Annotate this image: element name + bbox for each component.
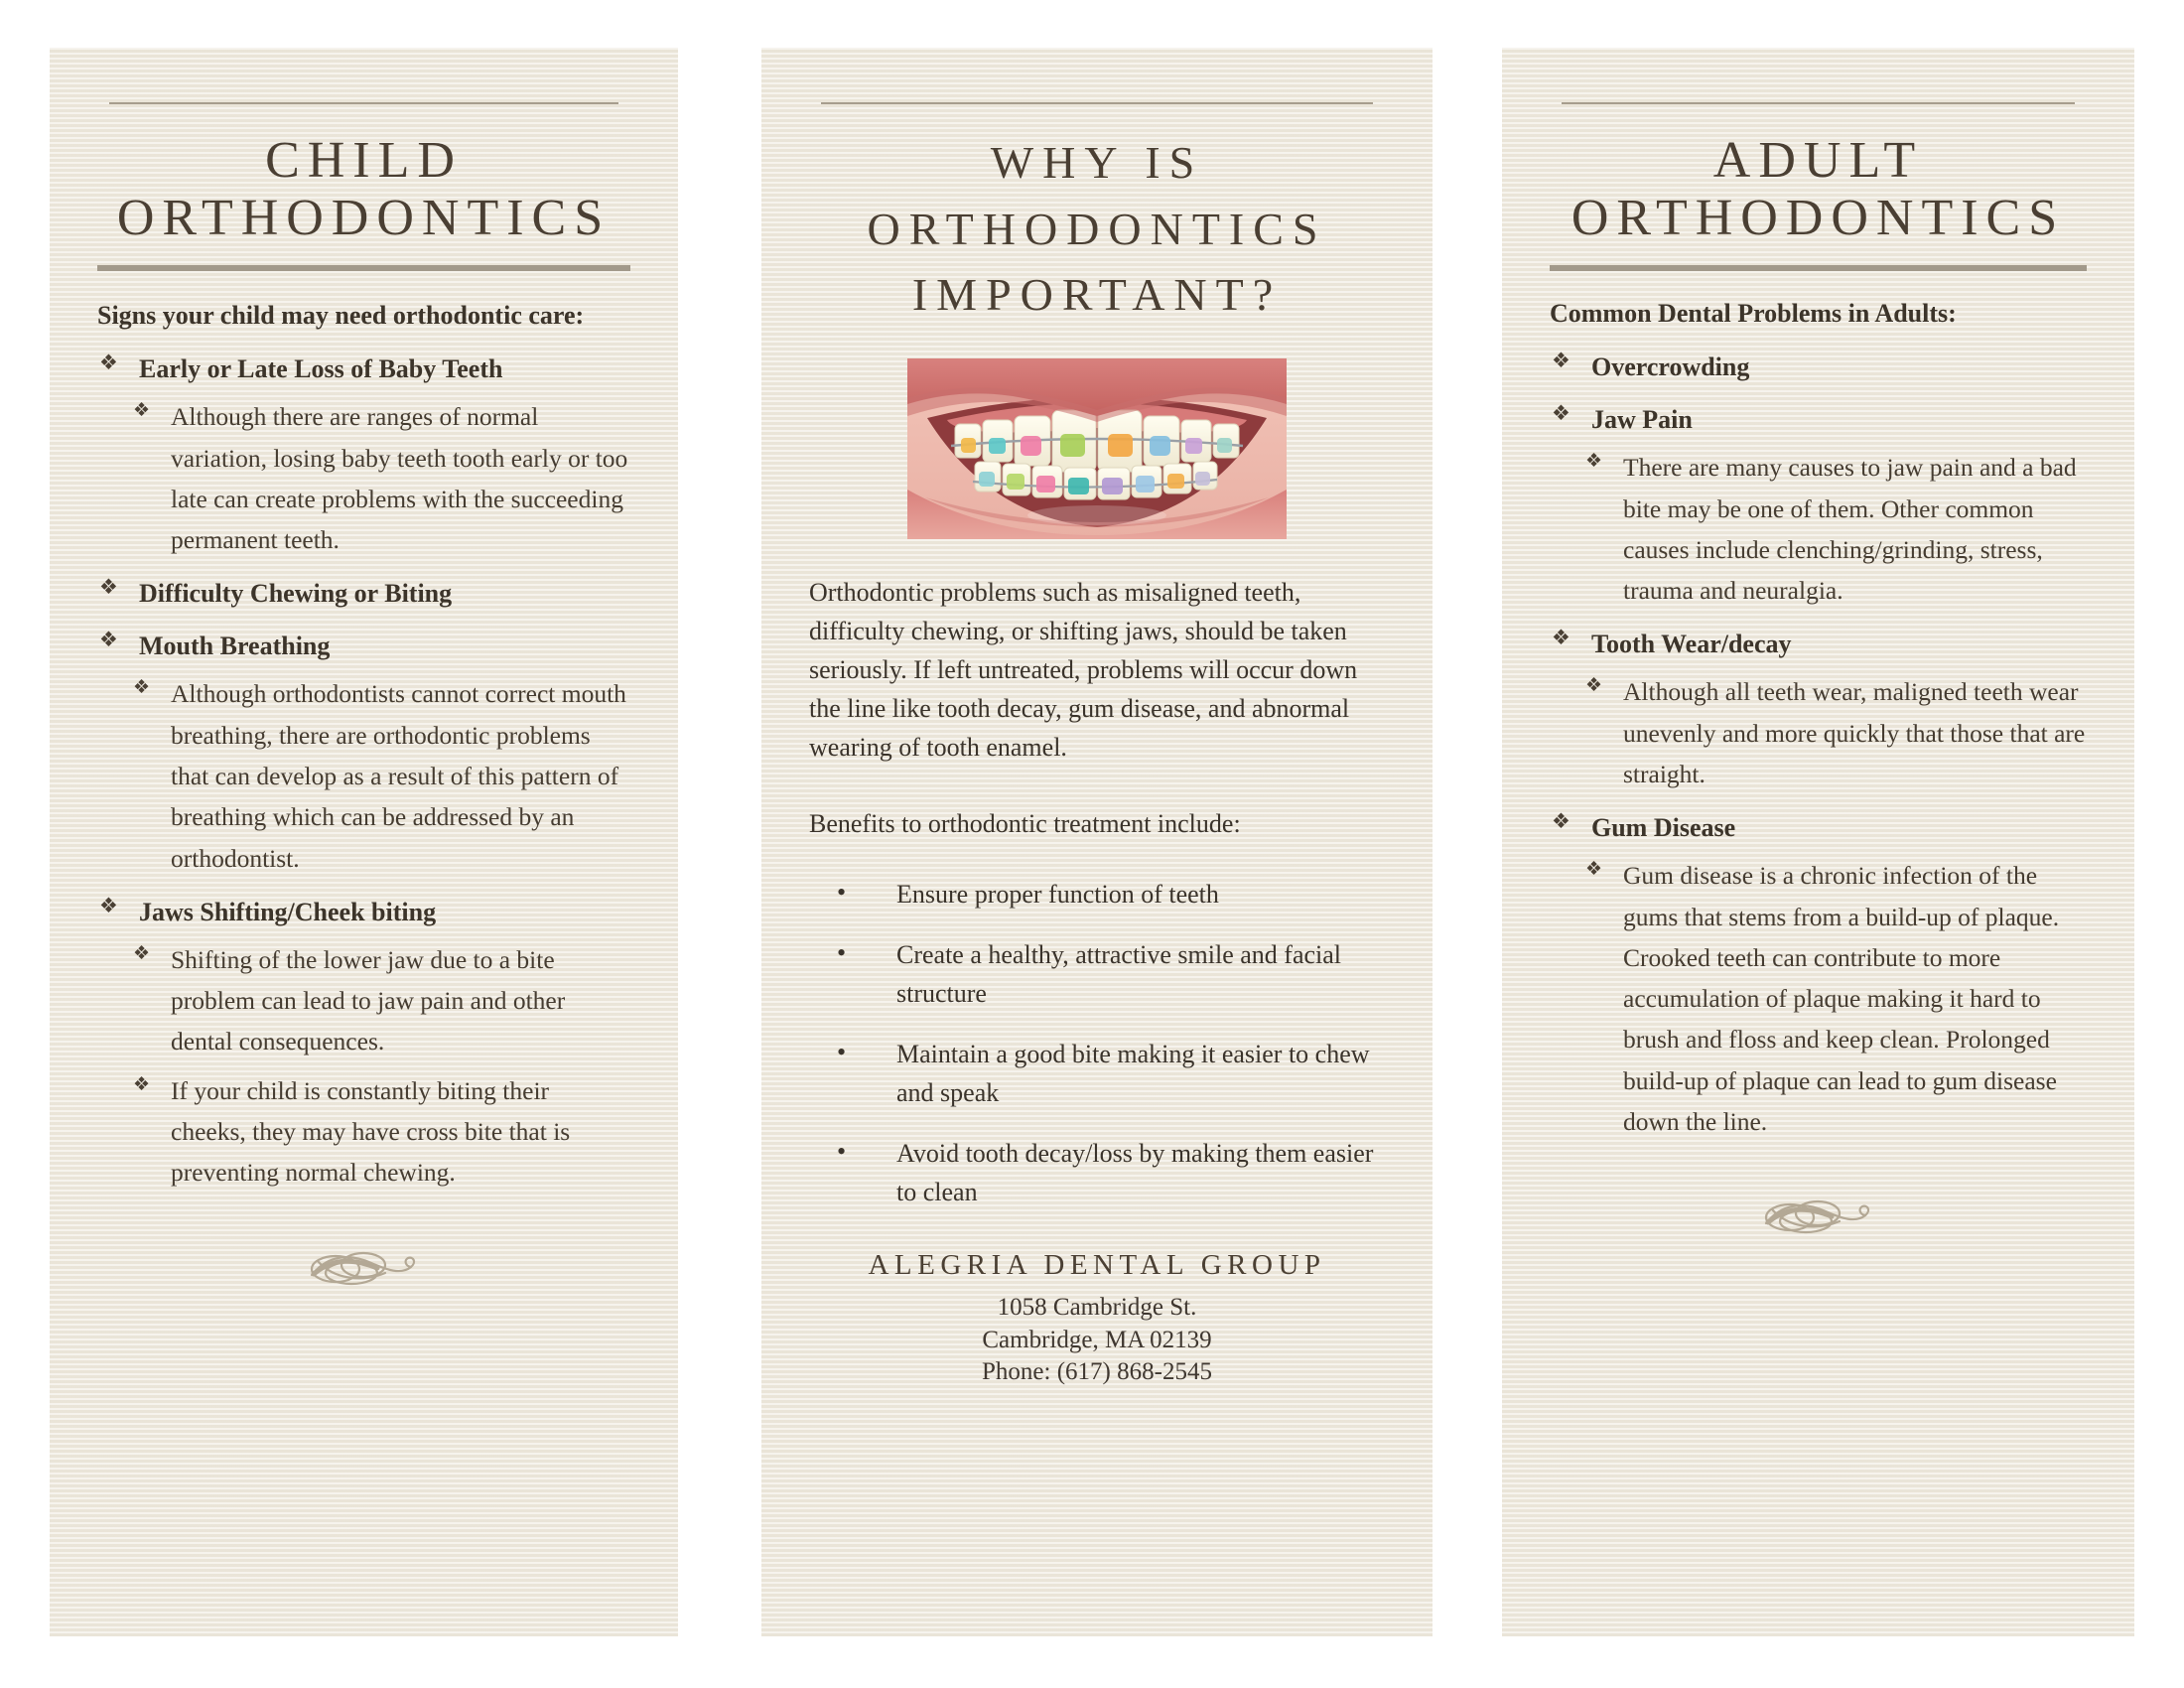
floret-bullet-icon: ❖ [133, 939, 150, 970]
floret-bullet-icon: ❖ [1585, 855, 1602, 886]
list-item-label: Difficulty Chewing or Biting [139, 579, 452, 608]
list-item-label: Overcrowding [1591, 352, 1749, 381]
floret-bullet-icon: ❖ [133, 396, 150, 427]
list-item: ❖ Jaws Shifting/Cheek biting ❖ Shifting … [97, 893, 630, 1194]
page-title-why: WHY IS ORTHODONTICS IMPORTANT? [809, 130, 1385, 329]
dot-bullet-icon: • [837, 1132, 846, 1171]
list-item-label: Jaw Pain [1591, 405, 1693, 434]
dot-bullet-icon: • [837, 873, 846, 912]
flourish-ornament-icon [1550, 1188, 2087, 1241]
list-item: ❖ Jaw Pain ❖ There are many causes to ja… [1550, 400, 2087, 611]
list-item: • Avoid tooth decay/loss by making them … [809, 1134, 1385, 1211]
adult-sublist: ❖ Although all teeth wear, maligned teet… [1583, 671, 2087, 794]
dot-bullet-icon: • [837, 933, 846, 972]
list-item: ❖ Although all teeth wear, maligned teet… [1583, 671, 2087, 794]
floret-bullet-icon: ❖ [99, 891, 118, 922]
dot-bullet-icon: • [837, 1033, 846, 1071]
list-item: ❖ If your child is constantly biting the… [131, 1070, 630, 1194]
list-item-text: Ensure proper function of teeth [896, 880, 1219, 909]
child-sublist: ❖ Although there are ranges of normal va… [131, 396, 630, 560]
list-item: ❖ Shifting of the lower jaw due to a bit… [131, 939, 630, 1062]
floret-bullet-icon: ❖ [1585, 447, 1602, 478]
floret-bullet-icon: ❖ [1552, 398, 1570, 430]
list-item-label: Tooth Wear/decay [1591, 630, 1792, 658]
list-item-text: Avoid tooth decay/loss by making them ea… [896, 1139, 1373, 1206]
adult-body: Common Dental Problems in Adults: ❖ Over… [1550, 295, 2087, 1241]
list-item: • Ensure proper function of teeth [809, 875, 1385, 914]
adult-sublist: ❖ Gum disease is a chronic infection of … [1583, 855, 2087, 1142]
panel-adult-orthodontics: ADULT ORTHODONTICS Common Dental Problem… [1502, 48, 2134, 1636]
phone-number: Phone: (617) 868-2545 [809, 1356, 1385, 1389]
floret-bullet-icon: ❖ [1585, 671, 1602, 702]
why-paragraph-2: Benefits to orthodontic treatment includ… [809, 804, 1385, 843]
practice-contact-block: ALEGRIA DENTAL GROUP 1058 Cambridge St. … [809, 1249, 1385, 1389]
list-item: ❖ Mouth Breathing ❖ Although orthodontis… [97, 627, 630, 878]
floret-bullet-icon: ❖ [1552, 346, 1570, 377]
adult-lead-text: Common Dental Problems in Adults: [1550, 295, 2087, 334]
smile-with-braces-photo [907, 358, 1287, 539]
list-item: ❖ Early or Late Loss of Baby Teeth ❖ Alt… [97, 350, 630, 560]
page-title-child: CHILD ORTHODONTICS [97, 132, 630, 247]
list-item: ❖ There are many causes to jaw pain and … [1583, 447, 2087, 611]
list-item-text: Create a healthy, attractive smile and f… [896, 940, 1341, 1008]
child-sublist: ❖ Shifting of the lower jaw due to a bit… [131, 939, 630, 1194]
list-item: ❖ Gum disease is a chronic infection of … [1583, 855, 2087, 1142]
floret-bullet-icon: ❖ [99, 572, 118, 604]
list-item: • Create a healthy, attractive smile and… [809, 935, 1385, 1013]
list-item: ❖ Difficulty Chewing or Biting [97, 574, 630, 613]
list-item: ❖ Although there are ranges of normal va… [131, 396, 630, 560]
floret-bullet-icon: ❖ [99, 348, 118, 379]
page-title-adult: ADULT ORTHODONTICS [1550, 132, 2087, 247]
floret-bullet-icon: ❖ [133, 673, 150, 704]
panel-child-orthodontics: CHILD ORTHODONTICS Signs your child may … [50, 48, 678, 1636]
braces-photo-wrap [809, 358, 1385, 539]
address-line-1: 1058 Cambridge St. [809, 1292, 1385, 1325]
list-item: ❖ Although orthodontists cannot correct … [131, 673, 630, 878]
child-lead-text: Signs your child may need orthodontic ca… [97, 297, 630, 336]
list-item-text: Shifting of the lower jaw due to a bite … [171, 945, 565, 1056]
child-signs-list: ❖ Early or Late Loss of Baby Teeth ❖ Alt… [97, 350, 630, 1193]
list-item-text: There are many causes to jaw pain and a … [1623, 453, 2077, 605]
title-rule-bottom [97, 265, 630, 271]
child-sublist: ❖ Although orthodontists cannot correct … [131, 673, 630, 878]
list-item-label: Early or Late Loss of Baby Teeth [139, 354, 502, 383]
list-item-label: Jaws Shifting/Cheek biting [139, 898, 436, 926]
adult-problems-list: ❖ Overcrowding ❖ Jaw Pain ❖ There are ma… [1550, 348, 2087, 1142]
title-rule-top [821, 102, 1373, 104]
list-item-text: Although all teeth wear, maligned teeth … [1623, 677, 2085, 788]
list-item-label: Gum Disease [1591, 813, 1735, 842]
why-benefits-list: • Ensure proper function of teeth • Crea… [809, 875, 1385, 1211]
list-item-label: Mouth Breathing [139, 632, 330, 660]
list-item-text: Gum disease is a chronic infection of th… [1623, 861, 2059, 1136]
list-item: ❖ Overcrowding [1550, 348, 2087, 386]
adult-sublist: ❖ There are many causes to jaw pain and … [1583, 447, 2087, 611]
floret-bullet-icon: ❖ [133, 1070, 150, 1101]
practice-name: ALEGRIA DENTAL GROUP [809, 1249, 1385, 1282]
floret-bullet-icon: ❖ [99, 625, 118, 656]
list-item-text: If your child is constantly biting their… [171, 1076, 570, 1188]
address-line-2: Cambridge, MA 02139 [809, 1325, 1385, 1357]
list-item-text: Maintain a good bite making it easier to… [896, 1040, 1370, 1107]
list-item: ❖ Tooth Wear/decay ❖ Although all teeth … [1550, 625, 2087, 794]
child-body: Signs your child may need orthodontic ca… [97, 297, 630, 1292]
flourish-ornament-icon [97, 1239, 630, 1293]
brochure-page: CHILD ORTHODONTICS Signs your child may … [0, 0, 2184, 1688]
title-rule-top [109, 102, 618, 104]
list-item: • Maintain a good bite making it easier … [809, 1035, 1385, 1112]
why-paragraph-1: Orthodontic problems such as misaligned … [809, 573, 1385, 767]
floret-bullet-icon: ❖ [1552, 623, 1570, 654]
title-rule-bottom [1550, 265, 2087, 271]
title-rule-top [1562, 102, 2075, 104]
list-item-text: Although there are ranges of normal vari… [171, 402, 627, 554]
panel-why-orthodontics-important: WHY IS ORTHODONTICS IMPORTANT? [761, 48, 1433, 1636]
list-item-text: Although orthodontists cannot correct mo… [171, 679, 626, 872]
list-item: ❖ Gum Disease ❖ Gum disease is a chronic… [1550, 808, 2087, 1142]
floret-bullet-icon: ❖ [1552, 806, 1570, 838]
